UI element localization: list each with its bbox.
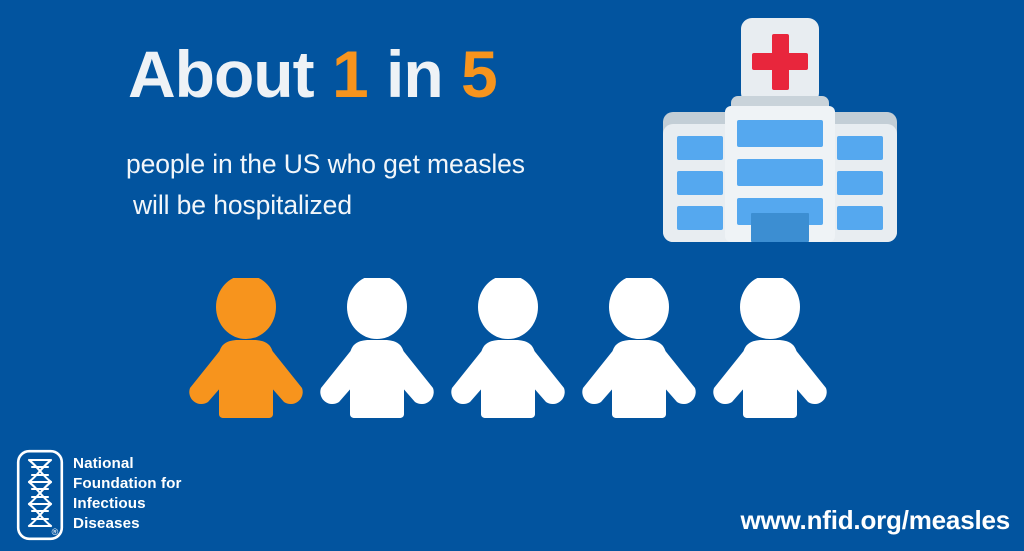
infographic-canvas: About 1 in 5 people in the US who get me… [0,0,1024,551]
person-icon-2 [317,278,467,418]
website-url[interactable]: www.nfid.org/measles [740,505,1010,536]
person-icon-5 [710,278,860,418]
logo-line-4: Diseases [73,514,182,534]
registered-mark: ® [52,527,59,537]
person-icon-3 [448,278,598,418]
nfid-logo[interactable]: ® National Foundation for Infectious Dis… [16,449,226,541]
page-title: About 1 in 5 [128,41,497,107]
headline-prefix: About [128,37,314,111]
subtitle: people in the US who get measles will be… [126,144,525,226]
logo-line-3: Infectious [73,494,182,514]
dna-helix-icon: ® [16,449,64,541]
headline-middle: in [386,37,443,111]
person-icon-1 [186,278,336,418]
logo-line-2: Foundation for [73,474,182,494]
subtitle-line-1: people in the US who get measles [126,149,525,179]
people-pictogram-row [186,278,858,418]
nfid-logo-text: National Foundation for Infectious Disea… [73,454,182,534]
headline-denominator: 5 [461,37,497,111]
hospital-icon [655,8,905,258]
person-icon-4 [579,278,729,418]
subtitle-line-2: will be hospitalized [126,185,525,226]
logo-line-1: National [73,454,182,474]
headline-numerator: 1 [332,37,368,111]
